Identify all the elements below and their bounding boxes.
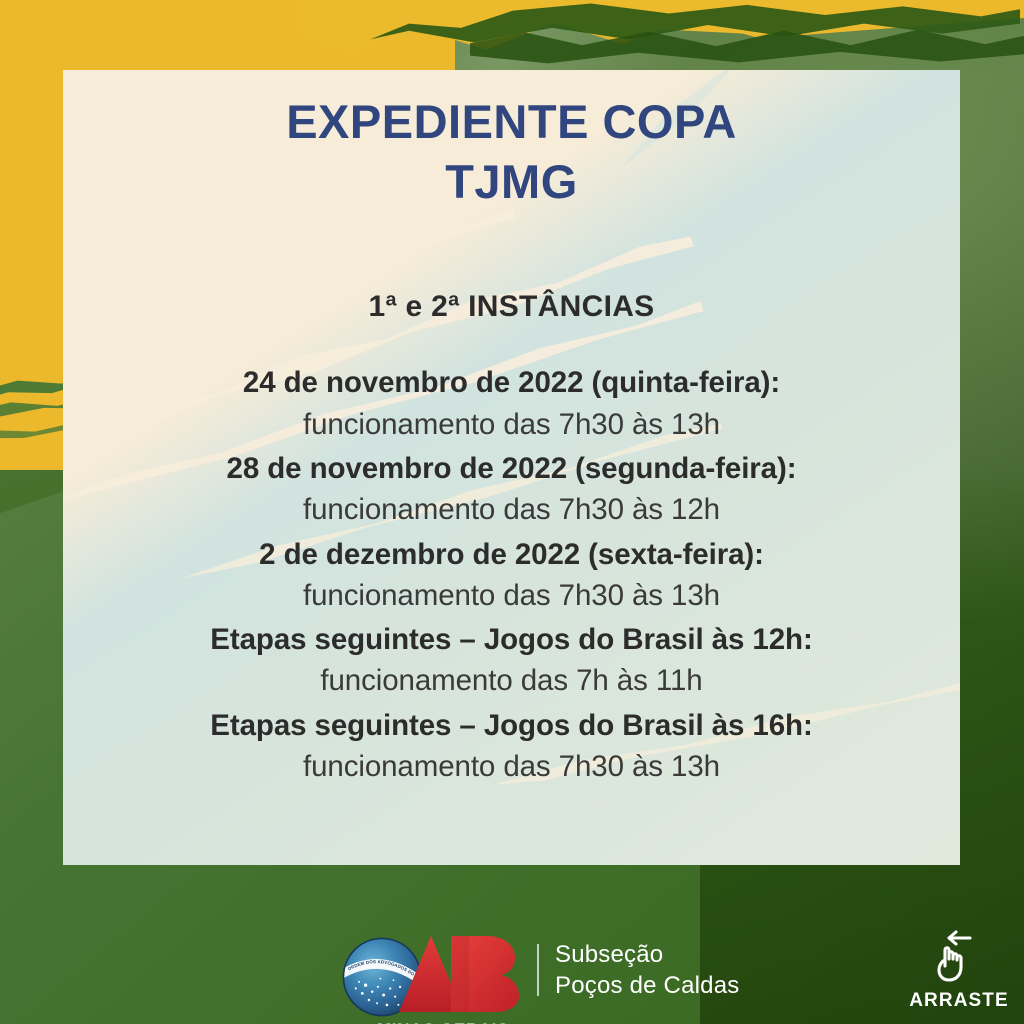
schedule-entry: Etapas seguintes – Jogos do Brasil às 12… bbox=[63, 619, 960, 702]
schedule-entry-hours: funcionamento das 7h às 11h bbox=[63, 660, 960, 701]
poster-canvas: EXPEDIENTE COPA TJMG 1ª e 2ª INSTÂNCIAS … bbox=[0, 0, 1024, 1024]
subsection-block: Subseção Poços de Caldas bbox=[555, 940, 739, 1001]
schedule-entry-label: Etapas seguintes – Jogos do Brasil às 16… bbox=[63, 705, 960, 746]
card-content: EXPEDIENTE COPA TJMG 1ª e 2ª INSTÂNCIAS … bbox=[63, 70, 960, 865]
subsection-line-2: Poços de Caldas bbox=[555, 971, 739, 1002]
swipe-hint-label: ARRASTE bbox=[909, 990, 1009, 1012]
schedule-entry-hours: funcionamento das 7h30 às 13h bbox=[63, 746, 960, 787]
title-line-2: TJMG bbox=[445, 155, 578, 208]
oab-logo-mark: ORDEM DOS ADVOGADOS DO BRASIL bbox=[341, 934, 519, 1018]
oab-logo: ORDEM DOS ADVOGADOS DO BRASIL bbox=[341, 934, 739, 1018]
schedule-entry-label: 2 de dezembro de 2022 (sexta-feira): bbox=[63, 534, 960, 575]
oab-letters-ab bbox=[391, 934, 519, 1014]
page-title: EXPEDIENTE COPA TJMG bbox=[286, 92, 737, 212]
footer: ORDEM DOS ADVOGADOS DO BRASIL bbox=[0, 865, 1024, 1024]
schedule-entry-hours: funcionamento das 7h30 às 12h bbox=[63, 489, 960, 530]
schedule-entry: 28 de novembro de 2022 (segunda-feira): … bbox=[63, 448, 960, 531]
swipe-hand-icon bbox=[928, 926, 990, 988]
title-line-1: EXPEDIENTE COPA bbox=[286, 95, 737, 148]
schedule-entry-hours: funcionamento das 7h30 às 13h bbox=[63, 404, 960, 445]
schedule-entry-label: Etapas seguintes – Jogos do Brasil às 12… bbox=[63, 619, 960, 660]
schedule-entry-label: 28 de novembro de 2022 (segunda-feira): bbox=[63, 448, 960, 489]
schedule-entry: 24 de novembro de 2022 (quinta-feira): f… bbox=[63, 362, 960, 445]
schedule-entry-label: 24 de novembro de 2022 (quinta-feira): bbox=[63, 362, 960, 403]
subsection-line-1: Subseção bbox=[555, 940, 739, 971]
schedule-entry: Etapas seguintes – Jogos do Brasil às 16… bbox=[63, 705, 960, 788]
schedule-entry-hours: funcionamento das 7h30 às 13h bbox=[63, 575, 960, 616]
oab-state-label: MINAS GERAIS bbox=[363, 1020, 523, 1024]
schedule-entry: 2 de dezembro de 2022 (sexta-feira): fun… bbox=[63, 534, 960, 617]
swipe-hint[interactable]: ARRASTE bbox=[910, 926, 1008, 1012]
schedule-list: 24 de novembro de 2022 (quinta-feira): f… bbox=[63, 362, 960, 790]
logo-divider bbox=[537, 944, 539, 996]
content-card: EXPEDIENTE COPA TJMG 1ª e 2ª INSTÂNCIAS … bbox=[63, 70, 960, 865]
subtitle: 1ª e 2ª INSTÂNCIAS bbox=[368, 290, 654, 324]
